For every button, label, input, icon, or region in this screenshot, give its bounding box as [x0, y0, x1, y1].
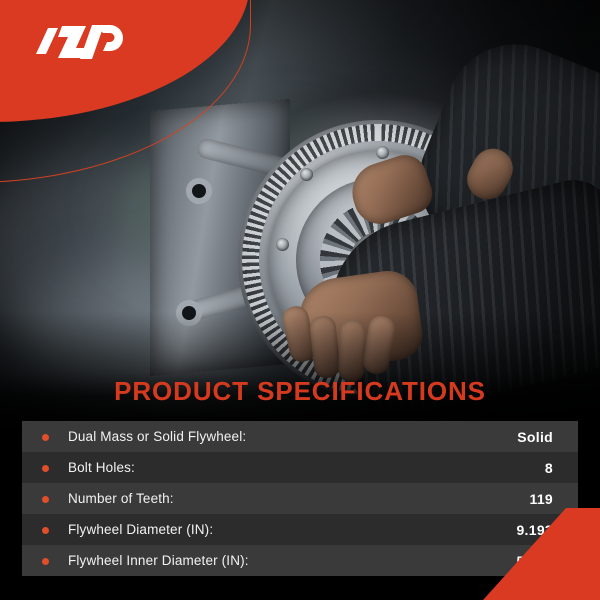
spec-label: Bolt Holes:: [68, 452, 323, 483]
a1-performance-logo-icon: [32, 18, 132, 68]
bullet-icon: [42, 434, 49, 441]
bullet-icon: [42, 527, 49, 534]
row-bullet-cell: [22, 483, 68, 514]
bullet-icon: [42, 558, 49, 565]
table-row: Flywheel Inner Diameter (IN): 5.819: [22, 545, 578, 576]
spec-label: Flywheel Diameter (IN):: [68, 514, 323, 545]
spec-value: 9.193: [323, 514, 578, 545]
row-bullet-cell: [22, 421, 68, 452]
bullet-icon: [42, 496, 49, 503]
spec-label: Number of Teeth:: [68, 483, 323, 514]
specification-table: Dual Mass or Solid Flywheel: Solid Bolt …: [22, 421, 578, 576]
spec-value: 5.819: [323, 545, 578, 576]
table-row: Bolt Holes: 8: [22, 452, 578, 483]
table-row: Number of Teeth: 119: [22, 483, 578, 514]
spec-value: 119: [323, 483, 578, 514]
row-bullet-cell: [22, 452, 68, 483]
table-row: Flywheel Diameter (IN): 9.193: [22, 514, 578, 545]
row-bullet-cell: [22, 545, 68, 576]
spec-value: Solid: [323, 421, 578, 452]
spec-value: 8: [323, 452, 578, 483]
spec-label: Flywheel Inner Diameter (IN):: [68, 545, 323, 576]
bullet-icon: [42, 465, 49, 472]
product-specification-card: PRODUCT SPECIFICATIONS Dual Mass or Soli…: [0, 0, 600, 600]
row-bullet-cell: [22, 514, 68, 545]
page-title: PRODUCT SPECIFICATIONS: [0, 376, 600, 407]
table-row: Dual Mass or Solid Flywheel: Solid: [22, 421, 578, 452]
spec-label: Dual Mass or Solid Flywheel:: [68, 421, 323, 452]
